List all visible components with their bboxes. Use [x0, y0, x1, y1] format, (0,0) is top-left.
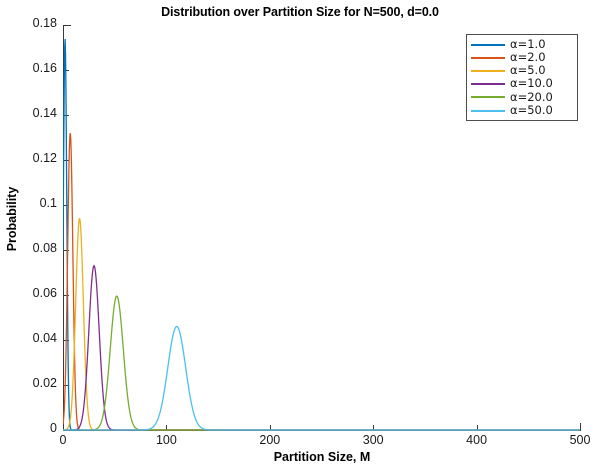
- legend-item-label: α=5.0: [510, 65, 546, 77]
- legend-item-label: α=20.0: [510, 92, 553, 104]
- y-axis-label: Probability: [5, 19, 19, 419]
- curve-1: [63, 133, 580, 430]
- legend-item[interactable]: α=20.0: [471, 91, 573, 104]
- legend-line-swatch: [471, 57, 505, 59]
- legend-line-swatch: [471, 70, 505, 72]
- legend-item-label: α=2.0: [510, 52, 546, 64]
- x-tick-label: 100: [156, 433, 177, 447]
- legend-item[interactable]: α=50.0: [471, 104, 573, 117]
- legend-item-label: α=10.0: [510, 78, 553, 90]
- legend-line-swatch: [471, 110, 505, 112]
- legend-item-label: α=50.0: [510, 105, 553, 117]
- x-tick-label: 0: [60, 433, 67, 447]
- chart-title: Distribution over Partition Size for N=5…: [0, 5, 600, 19]
- legend-item-label: α=1.0: [510, 39, 546, 51]
- curve-3: [63, 266, 580, 430]
- x-tick-label: 300: [363, 433, 384, 447]
- legend-item[interactable]: α=10.0: [471, 78, 573, 91]
- curve-4: [63, 296, 580, 430]
- legend: α=1.0α=2.0α=5.0α=10.0α=20.0α=50.0: [466, 34, 578, 121]
- curve-2: [63, 219, 580, 430]
- legend-line-swatch: [471, 83, 505, 85]
- x-tick-label: 500: [570, 433, 591, 447]
- legend-line-swatch: [471, 44, 505, 46]
- x-tick-label: 400: [466, 433, 487, 447]
- curve-5: [63, 327, 580, 431]
- legend-line-swatch: [471, 96, 505, 98]
- x-axis-label: Partition Size, M: [63, 450, 581, 464]
- figure: Distribution over Partition Size for N=5…: [0, 0, 600, 470]
- x-tick-label: 200: [259, 433, 280, 447]
